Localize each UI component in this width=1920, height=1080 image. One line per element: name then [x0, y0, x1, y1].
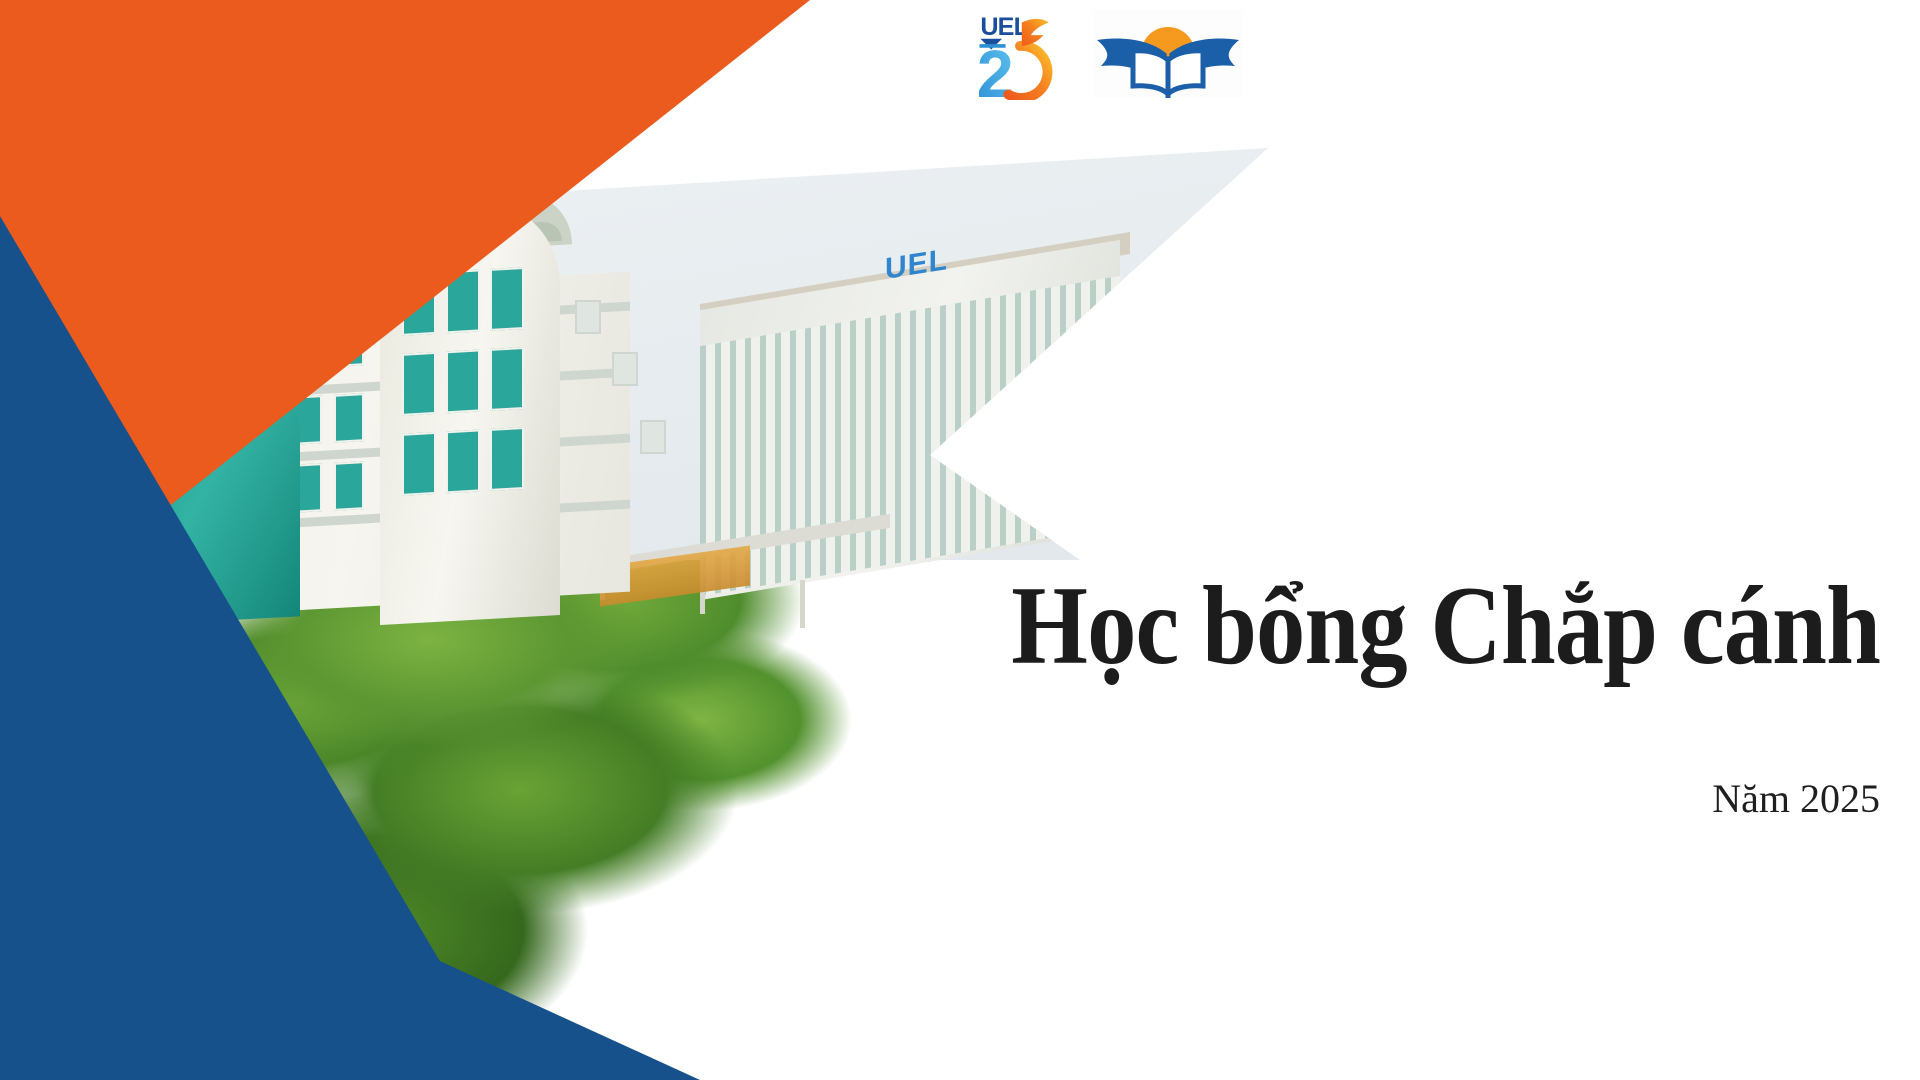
logo-row: UEL 2 [975, 8, 1243, 100]
book-left-page-icon [1133, 51, 1168, 94]
slide-subtitle: Năm 2025 [900, 775, 1880, 822]
decor-shapes [0, 0, 1920, 1080]
book-right-page-icon [1168, 51, 1203, 94]
presentation-slide: UEL [0, 0, 1920, 1080]
uel-25-anniversary-logo: UEL 2 [975, 8, 1065, 100]
page-title: Học bổng Chắp cánh [842, 570, 1880, 682]
svg-text:UEL: UEL [980, 13, 1028, 41]
winged-book-logo [1093, 10, 1243, 98]
